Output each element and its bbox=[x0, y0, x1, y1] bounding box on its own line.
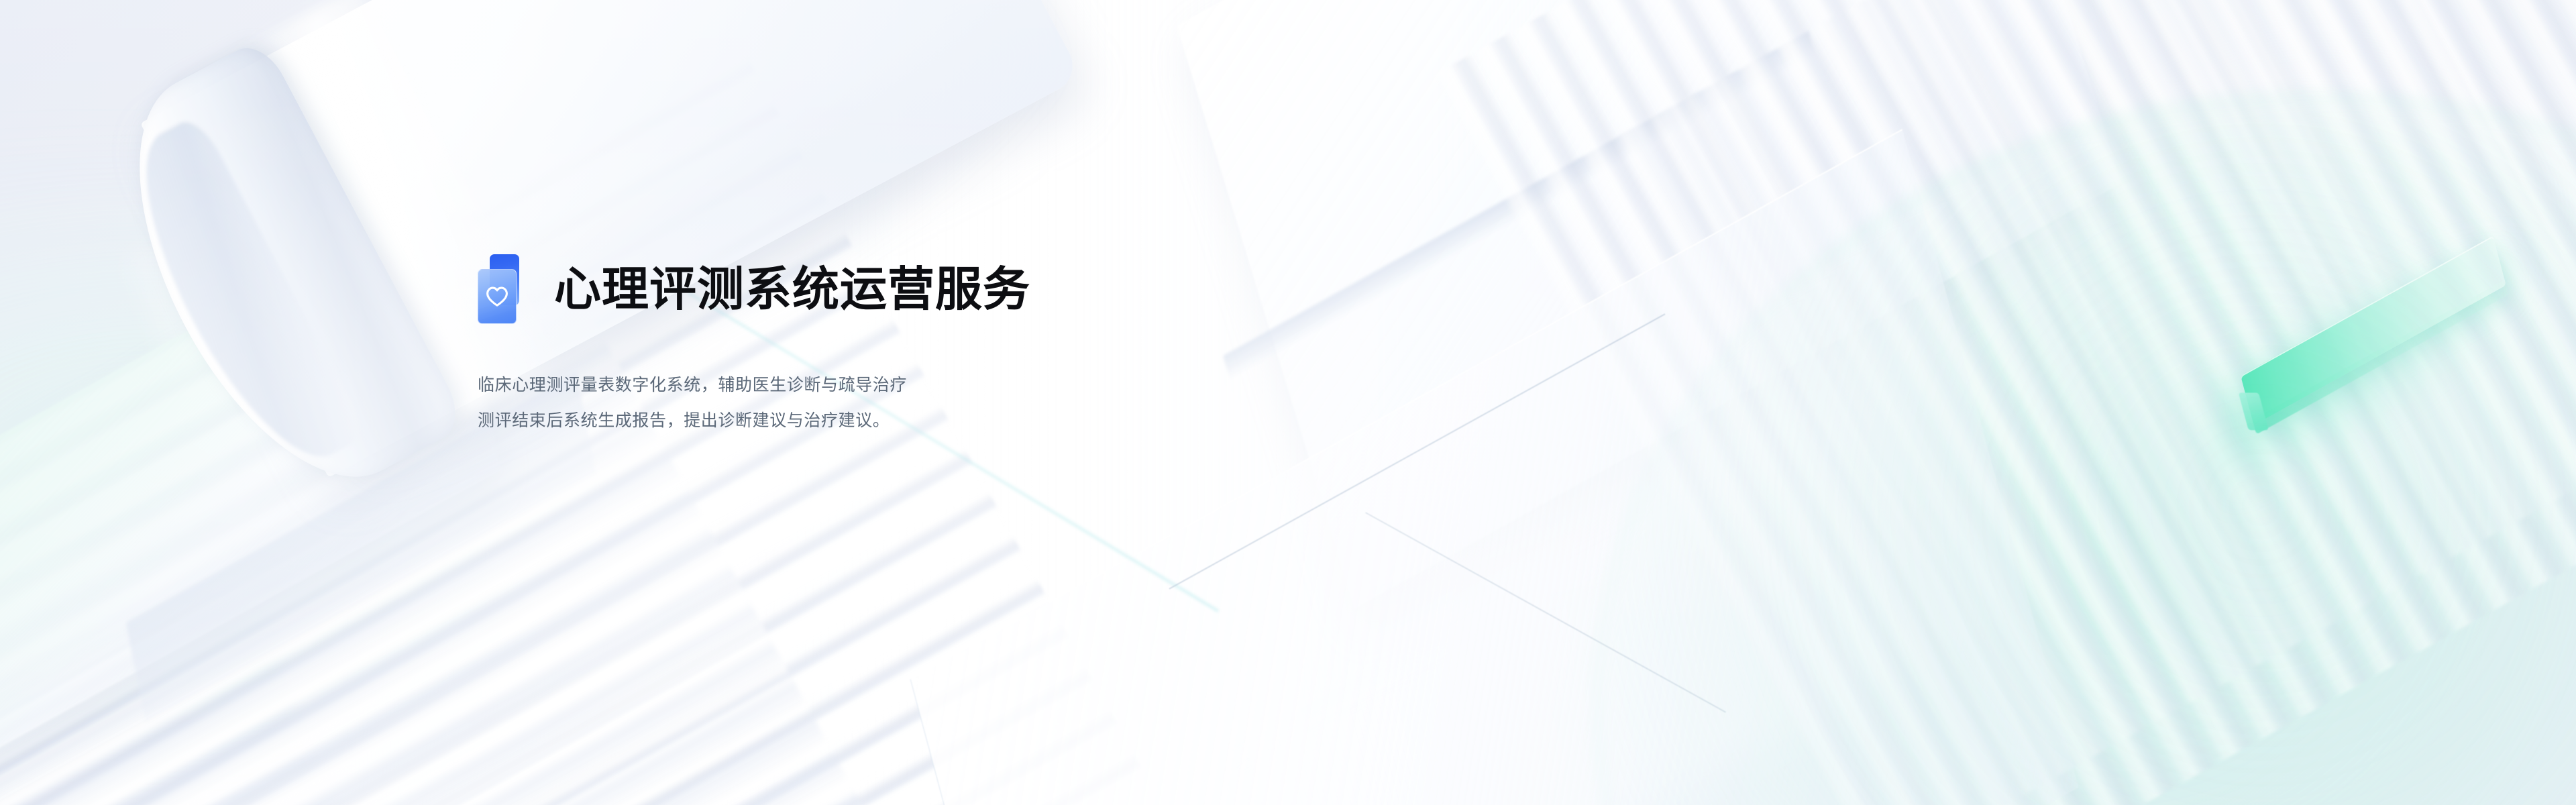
hero-banner: 心理评测系统运营服务 临床心理测评量表数字化系统，辅助医生诊断与疏导治疗 测评结… bbox=[0, 0, 2576, 805]
heart-icon bbox=[485, 286, 509, 307]
banner-content: 心理评测系统运营服务 临床心理测评量表数字化系统，辅助医生诊断与疏导治疗 测评结… bbox=[478, 250, 1551, 434]
page-title: 心理评测系统运营服务 bbox=[554, 265, 1030, 315]
subtitle-line-1: 临床心理测评量表数字化系统，辅助医生诊断与疏导治疗 bbox=[478, 372, 1551, 399]
banner-title-row: 心理评测系统运营服务 bbox=[478, 250, 1551, 330]
subtitle-line-2: 测评结束后系统生成报告，提出诊断建议与治疗建议。 bbox=[478, 407, 1551, 435]
icon-front-card bbox=[478, 269, 517, 324]
banner-subtitle: 临床心理测评量表数字化系统，辅助医生诊断与疏导治疗 测评结束后系统生成报告，提出… bbox=[478, 372, 1551, 434]
heart-card-icon bbox=[478, 254, 519, 325]
